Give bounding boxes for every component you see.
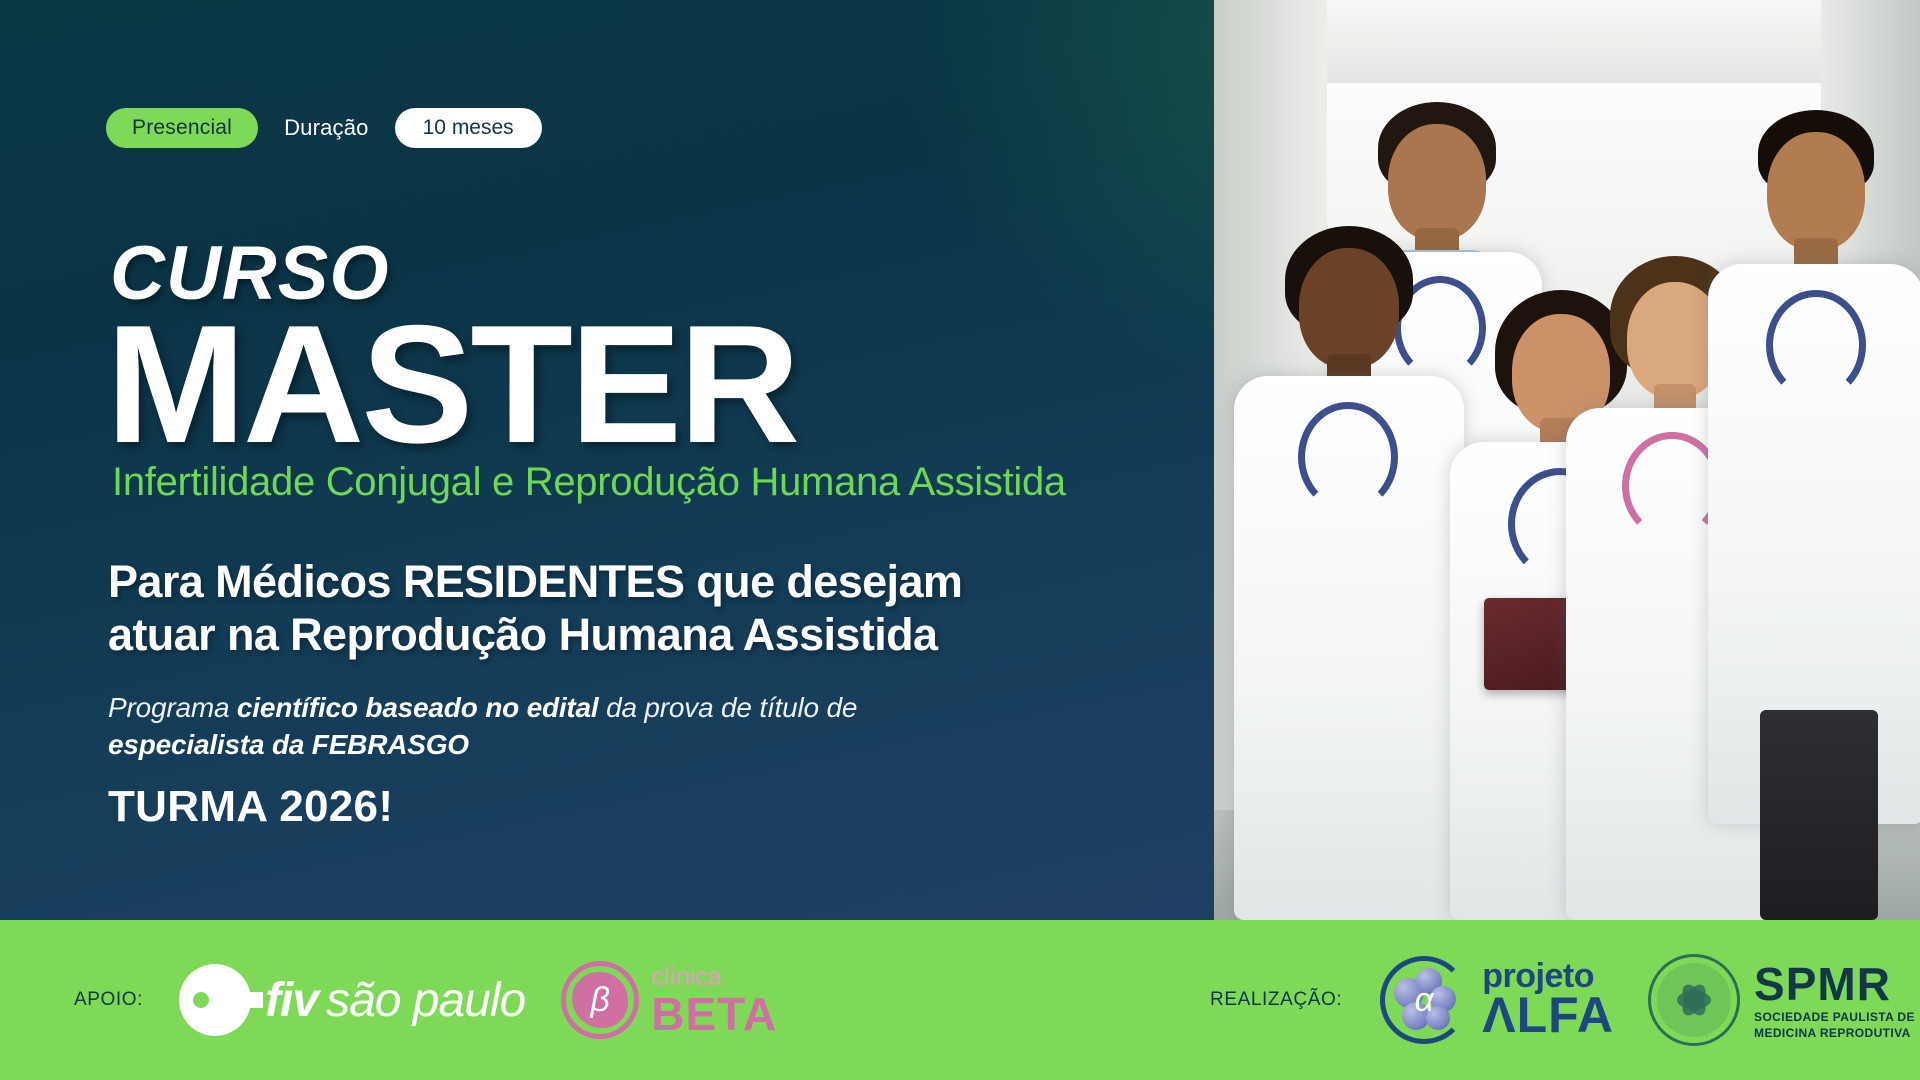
program-part-2: da prova de título de: [599, 692, 858, 723]
beta-name-text: BETA: [651, 991, 777, 1037]
modality-badge: Presencial: [106, 108, 258, 148]
copy-block: Presencial Duração 10 meses CURSO MASTER…: [106, 0, 1206, 920]
duration-badge: 10 meses: [395, 108, 542, 148]
duration-label: Duração: [284, 115, 369, 141]
spmr-sub-line-1: SOCIEDADE PAULISTA DE: [1754, 1011, 1915, 1023]
hero-stage: Presencial Duração 10 meses CURSO MASTER…: [0, 0, 1920, 920]
spmr-mark-icon: [1648, 954, 1740, 1046]
program-part-1: Programa: [108, 692, 237, 723]
beta-clinica-text: clínica: [651, 963, 777, 989]
course-promo-banner: Presencial Duração 10 meses CURSO MASTER…: [0, 0, 1920, 1080]
medical-team-photo: [1214, 0, 1920, 920]
program-strong-2: especialista da FEBRASGO: [108, 729, 469, 760]
sponsor-footer: APOIO: fiv são paulo β clínica BETA: [0, 920, 1920, 1080]
fiv-bold-text: fiv: [265, 973, 318, 1028]
program-strong-1: científico baseado no edital: [237, 692, 599, 723]
apoio-label: APOIO:: [74, 989, 143, 1011]
spmr-title-text: SPMR: [1754, 961, 1915, 1007]
program-description: Programa científico baseado no edital da…: [108, 690, 1008, 764]
page-title: MASTER: [106, 300, 797, 468]
course-subtitle: Infertilidade Conjugal e Reprodução Huma…: [112, 460, 1066, 505]
badge-row: Presencial Duração 10 meses: [106, 108, 542, 148]
person-far-right-male: [1708, 70, 1920, 920]
realizacao-group: REALIZAÇÃO: α projeto ΛLFA: [1210, 952, 1915, 1048]
dark-trousers: [1760, 710, 1878, 920]
beta-mark-icon: β: [561, 961, 639, 1039]
alfa-atom-icon: α: [1376, 952, 1472, 1048]
alfa-glyph: α: [1376, 952, 1472, 1048]
fiv-light-text: são paulo: [326, 973, 525, 1028]
people-group: [1214, 0, 1920, 920]
turma-callout: TURMA 2026!: [108, 782, 393, 832]
lead-line-2: atuar na Reprodução Humana Assistida: [108, 608, 1168, 661]
logo-projeto-alfa: α projeto ΛLFA: [1376, 952, 1614, 1048]
apoio-group: APOIO: fiv são paulo β clínica BETA: [74, 958, 777, 1042]
spmr-sub-line-2: MEDICINA REPRODUTIVA: [1754, 1027, 1915, 1039]
person-left-female: [1234, 130, 1464, 920]
realizacao-label: REALIZAÇÃO:: [1210, 989, 1342, 1011]
logo-clinica-beta: β clínica BETA: [561, 961, 777, 1039]
alfa-name-text: ΛLFA: [1482, 992, 1614, 1039]
logo-spmr: SPMR SOCIEDADE PAULISTA DE MEDICINA REPR…: [1648, 954, 1915, 1046]
fiv-mark-icon: [179, 958, 263, 1042]
beta-glyph: β: [561, 961, 639, 1039]
lead-paragraph: Para Médicos RESIDENTES que desejam atua…: [108, 555, 1168, 661]
logo-fiv-sao-paulo: fiv são paulo: [179, 958, 525, 1042]
lead-line-1: Para Médicos RESIDENTES que desejam: [108, 555, 1168, 608]
